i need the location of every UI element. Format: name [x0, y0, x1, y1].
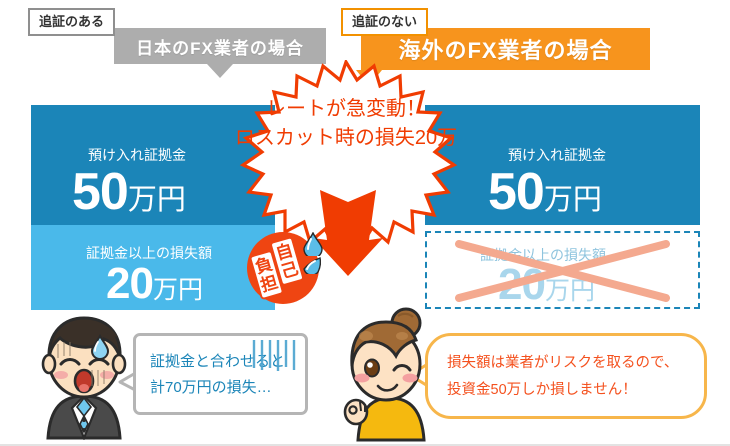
sweat-drop-icon — [303, 232, 323, 256]
right-deposit-amount: 50万円 — [488, 166, 602, 218]
left-loss-unit: 万円 — [153, 276, 203, 304]
sweat-drop-icon — [299, 254, 321, 274]
left-panel-band: 日本のFX業者の場合 — [114, 28, 326, 64]
right-loss-unit: 万円 — [545, 277, 595, 305]
right-loss-number: 20 — [498, 260, 545, 309]
infographic-canvas: 追証のある 日本のFX業者の場合 追証のない 海外のFX業者の場合 預け入れ証拠… — [0, 0, 730, 446]
right-deposit-label: 預け入れ証拠金 — [508, 145, 606, 165]
left-deposit-unit: 万円 — [128, 184, 186, 216]
sad-businessman-avatar — [34, 312, 134, 440]
left-loss-amount: 20万円 — [106, 262, 203, 306]
happy-girl-avatar — [336, 306, 440, 442]
left-panel-tag: 追証のある — [28, 8, 115, 36]
right-bubble-text: 損失額は業者がリスクを取るので、 投資金50万しか損しません！ — [447, 350, 678, 404]
right-deposit-unit: 万円 — [544, 184, 602, 216]
right-deposit-number: 50 — [488, 163, 544, 221]
starburst-line-1: レートが急変動！ — [196, 95, 496, 124]
right-panel-tag: 追証のない — [341, 8, 428, 36]
right-speech-bubble: 損失額は業者がリスクを取るので、 投資金50万しか損しません！ — [425, 333, 707, 419]
left-speech-bubble: 証拠金と合わせると 計70万円の損失… — [133, 333, 308, 415]
left-deposit-amount: 50万円 — [72, 166, 186, 218]
left-loss-number: 20 — [106, 259, 153, 308]
right-loss-amount: 20万円 — [498, 263, 595, 307]
left-bubble-line-2: 計70万円の損失… — [150, 375, 285, 401]
left-deposit-number: 50 — [72, 163, 128, 221]
left-deposit-label: 預け入れ証拠金 — [88, 145, 186, 165]
starburst-line-2: ロスカット時の損失20万 — [196, 124, 496, 153]
gloom-lines-icon — [249, 338, 297, 372]
right-bubble-line-1: 損失額は業者がリスクを取るので、 — [447, 350, 678, 377]
starburst-text: レートが急変動！ ロスカット時の損失20万 — [196, 95, 496, 153]
left-panel-band-label: 日本のFX業者の場合 — [136, 34, 304, 59]
right-bubble-line-2: 投資金50万しか損しません！ — [447, 377, 678, 404]
